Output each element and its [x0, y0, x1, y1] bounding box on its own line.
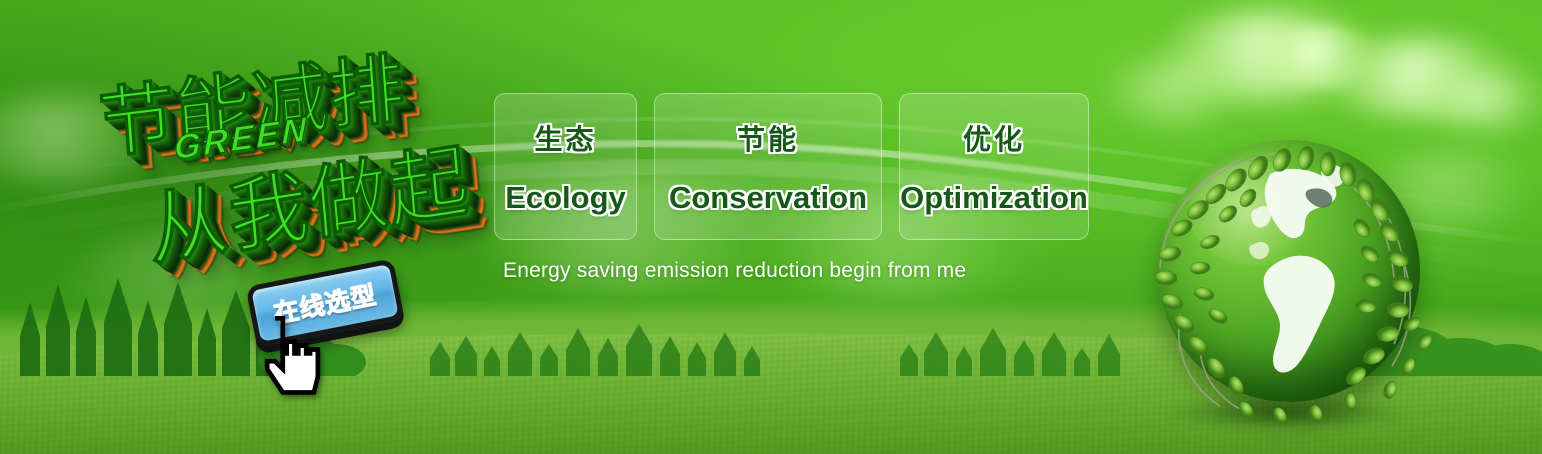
- feature-card-cn-label: 生态: [534, 118, 596, 158]
- leafy-earth-globe-icon: [1140, 118, 1440, 428]
- main-3d-headline: 节能减排 GREEN 从我做起: [87, 18, 510, 298]
- banner-tagline: Energy saving emission reduction begin f…: [503, 259, 966, 283]
- feature-card-cn-label: 优化: [963, 118, 1025, 158]
- feature-card-ecology[interactable]: 生态 Ecology: [494, 93, 637, 240]
- feature-card-en-label: Optimization: [900, 180, 1088, 216]
- feature-card-optimization[interactable]: 优化 Optimization: [899, 93, 1089, 240]
- feature-card-en-label: Conservation: [669, 180, 867, 216]
- feature-card-conservation[interactable]: 节能 Conservation: [654, 93, 882, 240]
- leaf-canopy: [1140, 118, 1440, 428]
- feature-card-en-label: Ecology: [505, 180, 626, 216]
- pointing-hand-cursor-icon: [248, 314, 326, 400]
- eco-hero-banner: 节能减排 GREEN 从我做起 在线选型 生态 Ecology 节能 Conse…: [0, 0, 1542, 454]
- feature-card-row: 生态 Ecology 节能 Conservation 优化 Optimizati…: [494, 93, 1089, 240]
- feature-card-cn-label: 节能: [737, 118, 799, 158]
